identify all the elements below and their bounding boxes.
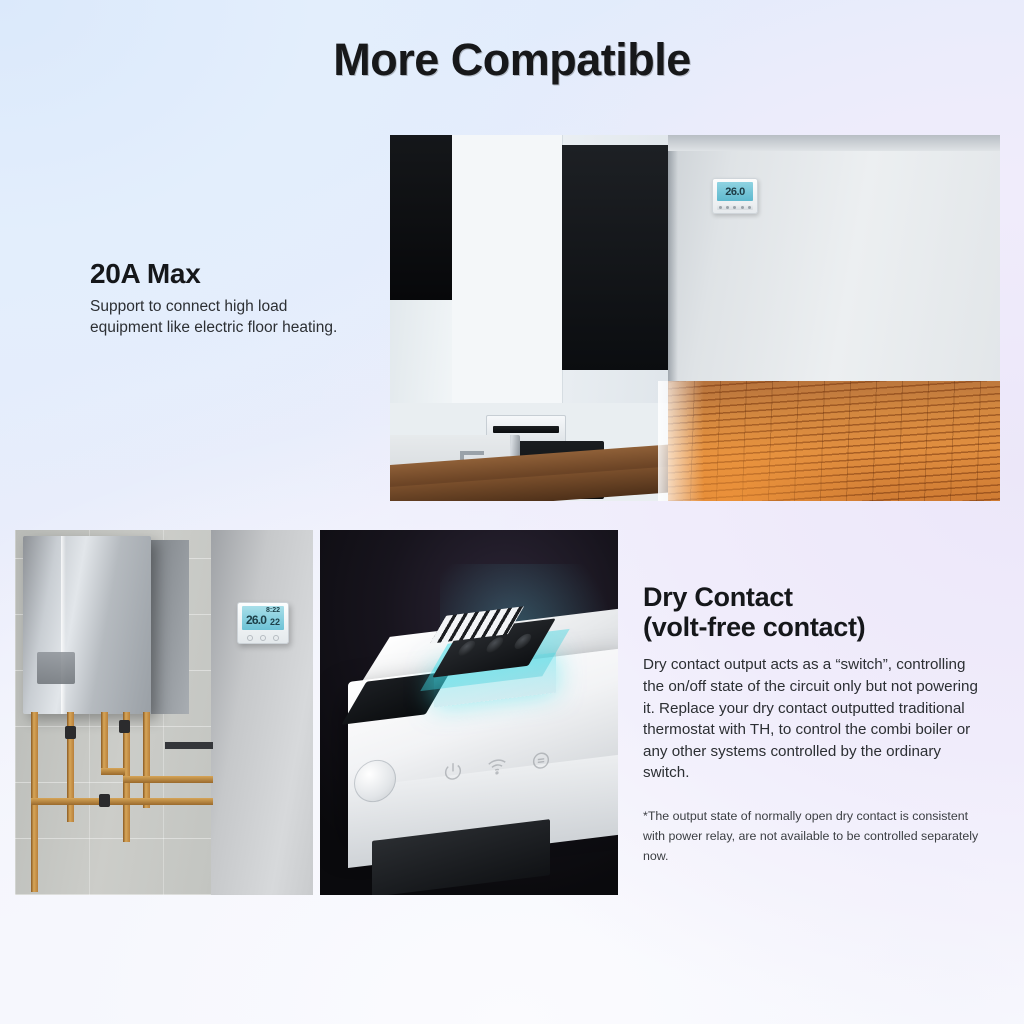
- kitchen-heated-floor: [668, 381, 1000, 501]
- thermostat-button-dot: [273, 635, 279, 641]
- black-pipe: [165, 742, 213, 749]
- device-dry-contact-terminal: [432, 608, 560, 694]
- thermostat-button-dot: [733, 206, 736, 209]
- boiler-right-wall: [211, 530, 313, 895]
- kitchen-right-wall: [668, 135, 1000, 397]
- boiler-thermostat-clock: 8:22: [266, 607, 280, 614]
- boiler-thermostat-temp: 26.0: [246, 613, 266, 627]
- boiler-photo: 8:22 26.0 22: [15, 530, 313, 895]
- terminal-screw-port: [484, 636, 507, 653]
- boiler-thermostat-setpoint: 22: [270, 617, 280, 627]
- copper-pipe: [101, 768, 125, 775]
- thermostat-button-dot: [719, 206, 722, 209]
- kitchen-tall-cabinet-left: [390, 135, 452, 300]
- kitchen-panel-a: [452, 135, 563, 403]
- thermostat-button-dot: [247, 635, 253, 641]
- thermostat-button-dot: [741, 206, 744, 209]
- feature-dry-contact-heading-line1: Dry Contact: [643, 582, 983, 612]
- feature-dry-contact-body: Dry contact output acts as a “switch”, c…: [643, 654, 983, 783]
- boiler-unit-side: [151, 540, 189, 714]
- poster-background: More Compatible 26.0: [0, 0, 1024, 1024]
- wifi-icon: [486, 754, 508, 779]
- page-title: More Compatible: [0, 34, 1024, 86]
- copper-pipe: [101, 712, 108, 772]
- feature-20a-max: 20A Max Support to connect high load equ…: [90, 258, 340, 339]
- copper-pipe: [143, 712, 150, 808]
- feature-dry-contact-footnote: *The output state of normally open dry c…: [643, 806, 983, 866]
- kitchen-tall-cabinet-center: [562, 145, 680, 370]
- boiler-thermostat-buttons: [243, 634, 283, 641]
- boiler-rating-plate: [37, 652, 75, 684]
- feature-dry-contact: Dry Contact (volt-free contact) Dry cont…: [643, 582, 983, 866]
- terminal-screw-port: [512, 633, 535, 650]
- kitchen-thermostat-buttons: [717, 204, 753, 210]
- feature-dry-contact-heading-line2: (volt-free contact): [643, 612, 983, 642]
- pipe-valve: [99, 794, 110, 807]
- thermostat-button-dot: [748, 206, 751, 209]
- pipe-valve: [65, 726, 76, 739]
- feature-20a-heading: 20A Max: [90, 258, 340, 289]
- kitchen-floor-fade: [658, 381, 704, 501]
- copper-pipe: [123, 776, 213, 783]
- copper-pipe: [31, 798, 213, 805]
- kitchen-ceiling: [668, 135, 1000, 151]
- kitchen-thermostat-display: 26.0: [717, 182, 753, 201]
- pipe-valve: [119, 720, 130, 733]
- pairing-icon: [530, 748, 552, 773]
- terminal-screw-port: [456, 640, 479, 657]
- thermostat-button-dot: [260, 635, 266, 641]
- kitchen-photo: 26.0: [390, 135, 1000, 501]
- device-photo: [320, 530, 618, 895]
- thermostat-button-dot: [726, 206, 729, 209]
- power-icon: [442, 759, 464, 784]
- kitchen-thermostat: 26.0: [712, 178, 758, 214]
- boiler-thermostat-display: 8:22 26.0 22: [242, 606, 284, 630]
- boiler-unit: [23, 536, 151, 714]
- boiler-thermostat: 8:22 26.0 22: [237, 602, 289, 644]
- feature-20a-body: Support to connect high load equipment l…: [90, 296, 340, 338]
- boiler-unit-highlight: [61, 536, 66, 714]
